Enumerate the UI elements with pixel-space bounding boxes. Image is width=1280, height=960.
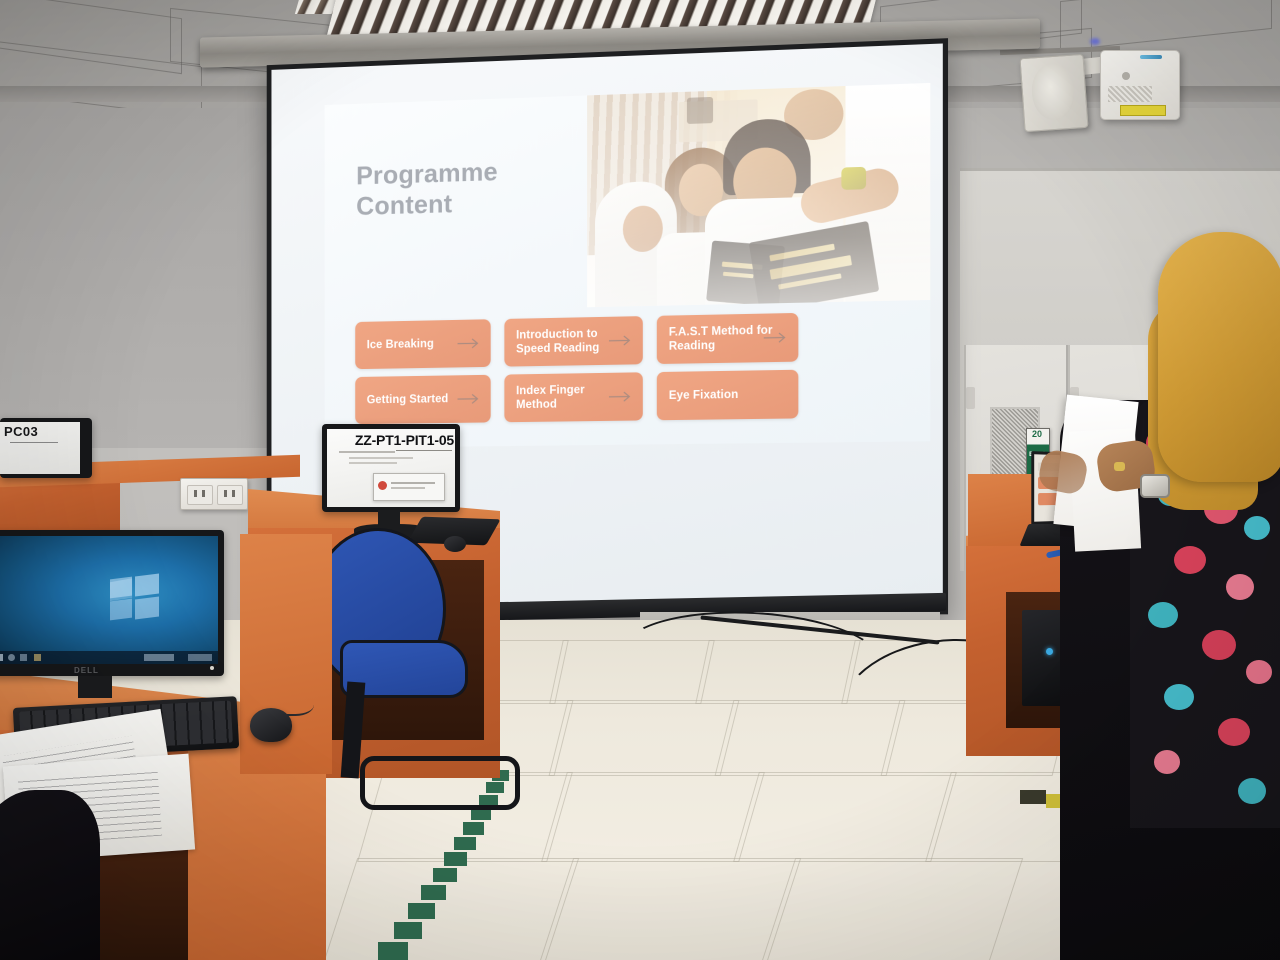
monitor-dell-brand: DELL (74, 666, 99, 675)
windows-logo-q4 (135, 597, 159, 620)
cabinet-hinge-1 (966, 387, 975, 409)
slide-item-ice-breaking[interactable]: Ice Breaking (355, 319, 490, 369)
indicator-led (1090, 38, 1100, 45)
unit-vent (1108, 86, 1152, 102)
presenter-hijab (1158, 232, 1280, 482)
unit-knob[interactable] (1122, 72, 1130, 80)
pc-power-led[interactable] (1046, 648, 1053, 655)
power-socket[interactable] (180, 478, 248, 510)
unit-asset-sticker (1120, 105, 1166, 116)
arrow-right-icon (608, 334, 632, 346)
monitor-dell: DELL (0, 530, 224, 676)
desktop-pc-tower (1022, 610, 1062, 706)
monitor-zz-pt1-label: ZZ-PT1-PIT1-05 (330, 432, 454, 448)
windows-logo-q2 (135, 574, 159, 597)
arrow-right-icon (763, 331, 787, 344)
mouse-front[interactable] (250, 708, 292, 742)
monitor-dell-stand (78, 676, 112, 698)
presenter-wristwatch (1140, 474, 1170, 498)
taskbar-explorer-icon[interactable] (34, 654, 41, 661)
monitor-pc03-sublabel (10, 440, 58, 443)
unit-led-strip (1140, 55, 1162, 59)
taskbar-clock[interactable] (144, 654, 174, 661)
chair-middle-base (360, 756, 520, 810)
classroom-photo-scene: 20 BILIK 05 BILIK 1 (0, 0, 1280, 960)
slide-item-fast-method-for-reading[interactable]: F.A.S.T Method for Reading (657, 313, 799, 364)
slide-item-label: Eye Fixation (657, 388, 743, 403)
photo-projection-washout (587, 83, 930, 307)
slide-item-getting-started[interactable]: Getting Started (355, 375, 490, 424)
windows-logo-q3 (110, 599, 132, 621)
left-wall (0, 108, 300, 448)
slide-title-line2: Content (356, 184, 580, 221)
slide-item-eye-fixation[interactable]: Eye Fixation (657, 370, 799, 421)
wall-sign-20-number: 20 (1026, 430, 1048, 439)
slide-item-introduction-to-speed-reading[interactable]: Introduction to Speed Reading (504, 316, 642, 367)
slide-item-label: Getting Started (355, 392, 452, 407)
taskbar-tray[interactable] (188, 654, 212, 661)
taskbar-search-icon[interactable] (8, 654, 15, 661)
arrow-right-icon (457, 393, 480, 405)
seated-person-silhouette (0, 790, 100, 960)
monitor-dialog-box[interactable] (373, 473, 445, 501)
arrow-right-icon (608, 391, 632, 403)
taskbar[interactable] (0, 651, 218, 664)
slide-title: Programme Content (356, 154, 580, 222)
mouse-middle[interactable] (444, 536, 466, 552)
presentation-slide: Programme Content Ice Breaking Introduct… (325, 83, 931, 448)
windows-logo-q1 (110, 577, 132, 599)
monitor-zz-sublabel (396, 448, 452, 451)
presenter-ring (1114, 462, 1125, 471)
desk-middle-divider (240, 534, 332, 774)
start-button-icon[interactable] (0, 654, 3, 661)
taskbar-taskview-icon[interactable] (20, 654, 27, 661)
slide-item-label: Ice Breaking (355, 337, 437, 352)
arrow-right-icon (457, 337, 480, 349)
slide-item-index-finger-method[interactable]: Index Finger Method (504, 372, 642, 422)
monitor-pc03-label: PC03 (4, 424, 38, 439)
monitor-dell-screen[interactable] (0, 536, 218, 664)
monitor-power-led[interactable] (210, 666, 214, 670)
slide-photo (587, 83, 930, 307)
